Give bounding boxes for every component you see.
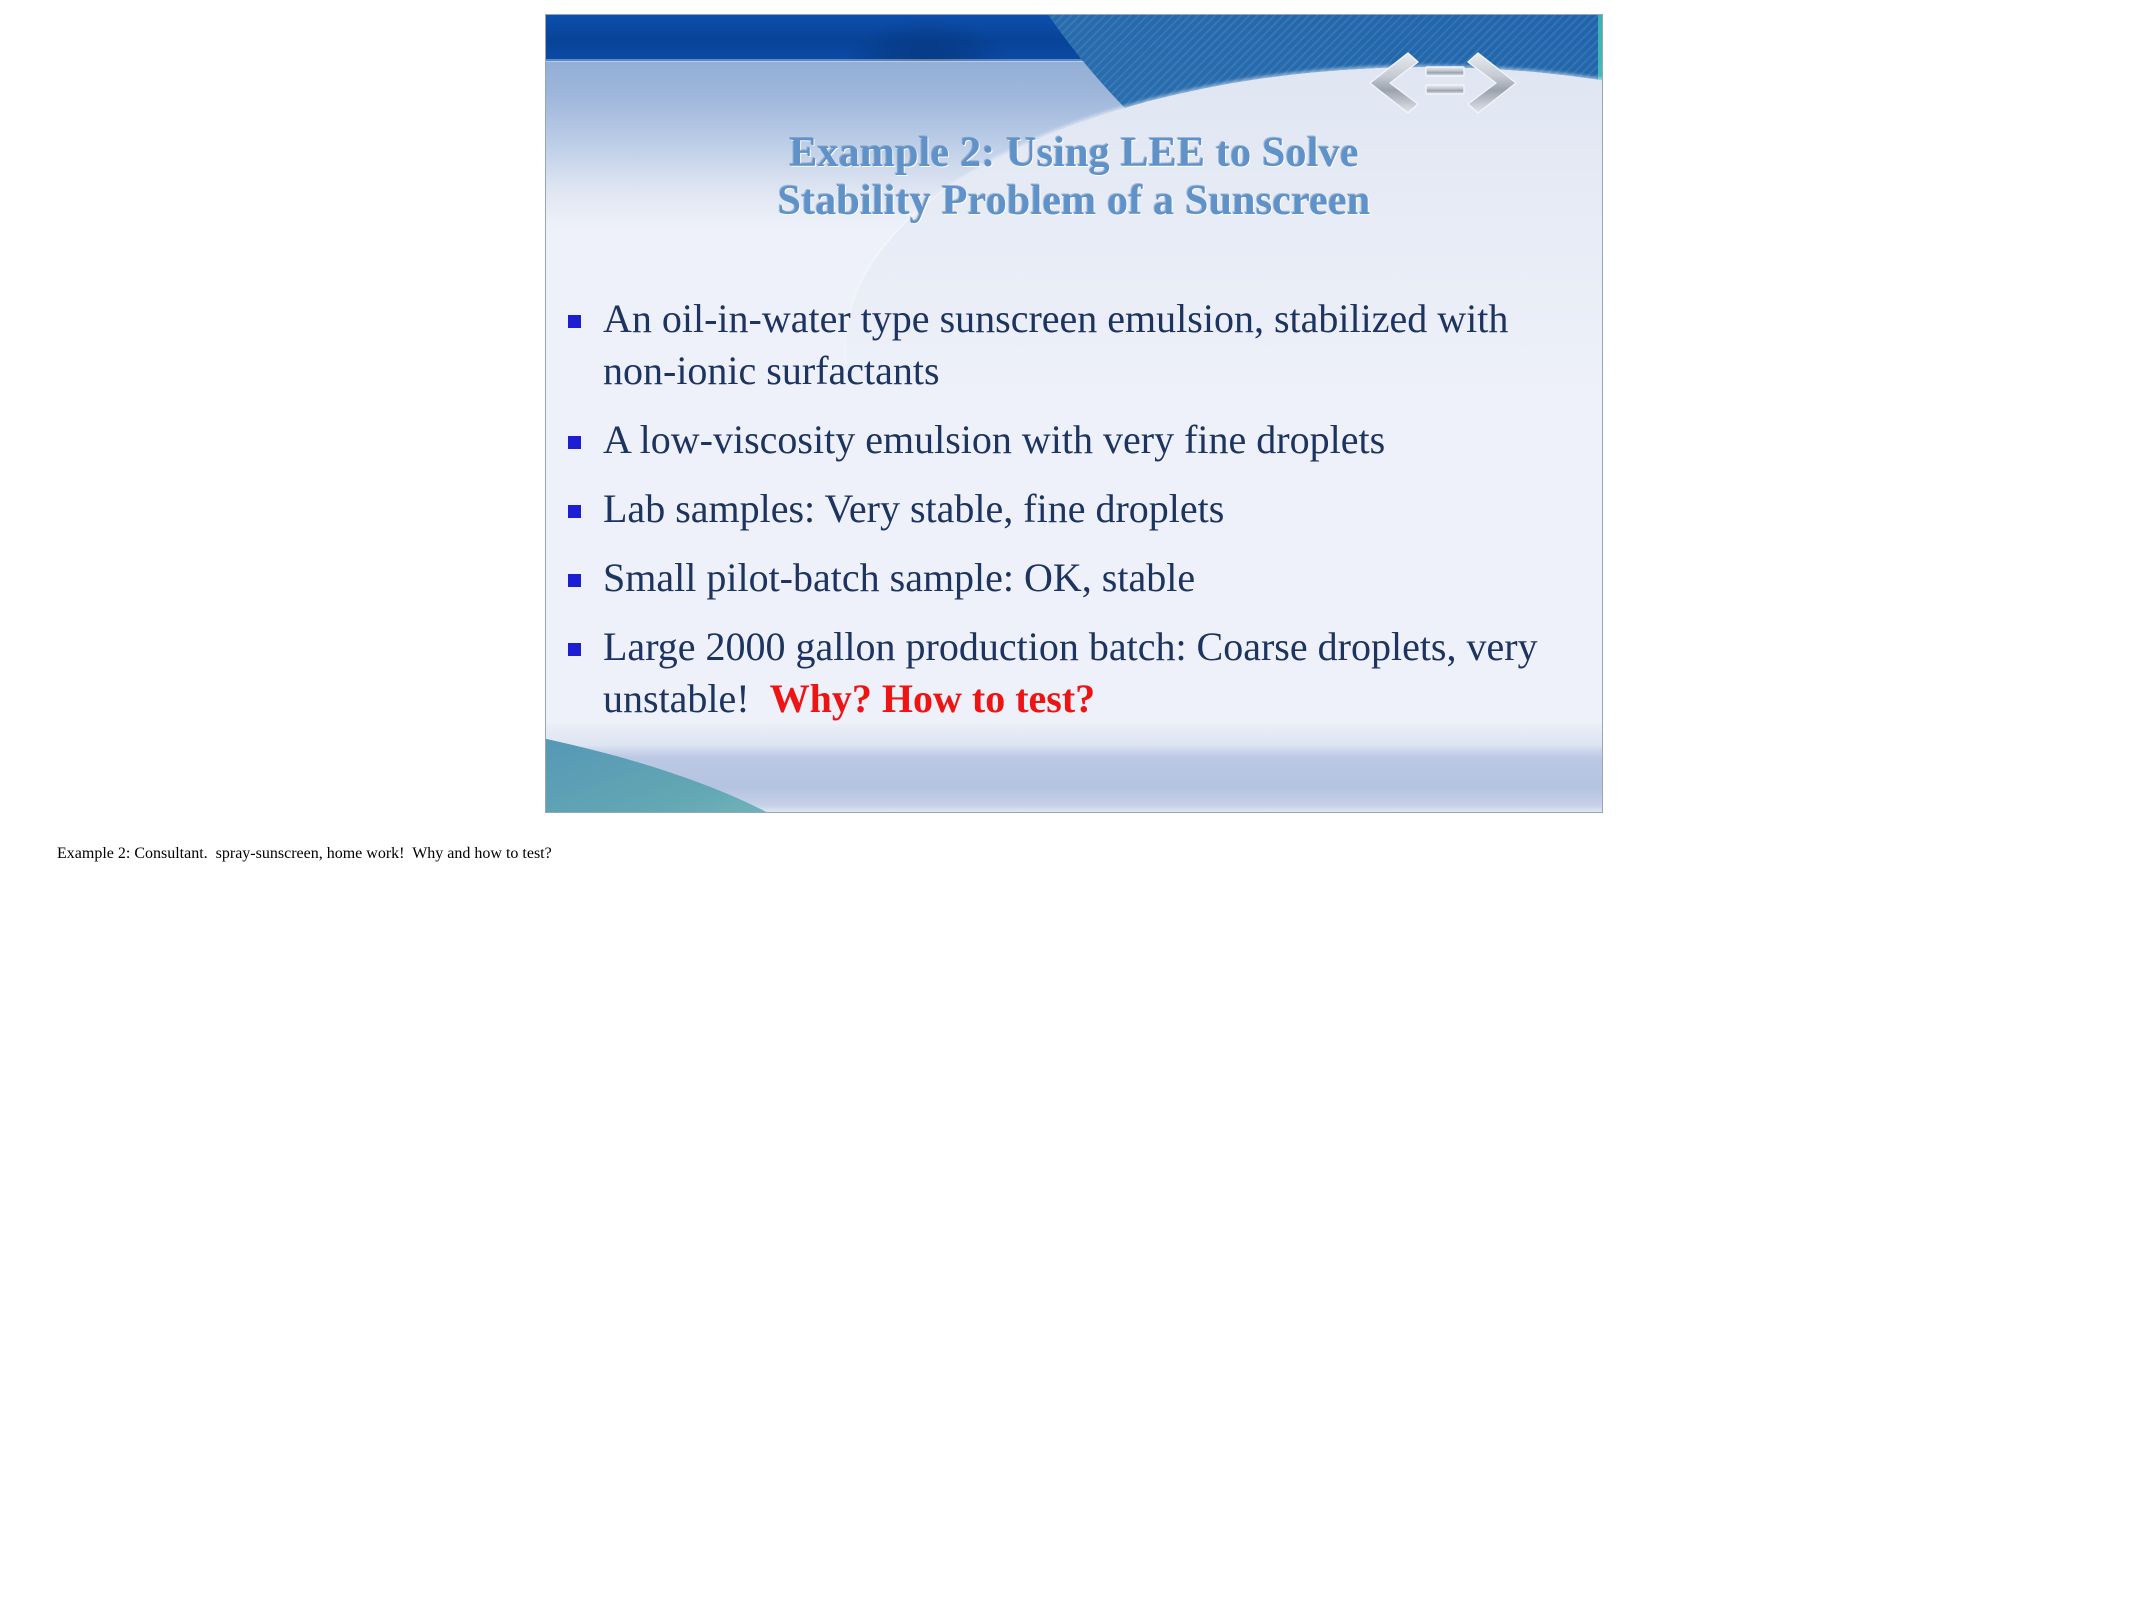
slide-title-line-2: Stability Problem of a Sunscreen [546,177,1602,225]
bullet-text-main: Lab samples: Very stable, fine droplets [603,486,1224,531]
bullet-square-icon [568,574,581,587]
bullet-item: An oil-in-water type sunscreen emulsion,… [568,293,1578,397]
slide-caption-note: Example 2: Consultant. spray-sunscreen, … [57,845,552,863]
bullet-text: A low-viscosity emulsion with very fine … [603,414,1578,466]
slide-body-bullet-list: An oil-in-water type sunscreen emulsion,… [568,293,1578,742]
bullet-text: An oil-in-water type sunscreen emulsion,… [603,293,1578,397]
bullet-square-icon [568,436,581,449]
bullet-text: Small pilot-batch sample: OK, stable [603,552,1578,604]
bullet-text-main: A low-viscosity emulsion with very fine … [603,417,1385,462]
chevron-equals-logo-icon [1364,49,1524,117]
presentation-slide: Example 2: Using LEE to Solve Stability … [545,14,1603,813]
bullet-square-icon [568,643,581,656]
bullet-text-main: Small pilot-batch sample: OK, stable [603,555,1195,600]
bullet-item: Large 2000 gallon production batch: Coar… [568,621,1578,725]
bullet-item: Lab samples: Very stable, fine droplets [568,483,1578,535]
bullet-text-highlight: Why? How to test? [770,676,1096,721]
bullet-text: Large 2000 gallon production batch: Coar… [603,621,1578,725]
bullet-square-icon [568,505,581,518]
bullet-item: A low-viscosity emulsion with very fine … [568,414,1578,466]
bullet-text: Lab samples: Very stable, fine droplets [603,483,1578,535]
bullet-text-main: An oil-in-water type sunscreen emulsion,… [603,296,1508,393]
bullet-item: Small pilot-batch sample: OK, stable [568,552,1578,604]
slide-title: Example 2: Using LEE to Solve Stability … [546,129,1602,225]
slide-title-line-1: Example 2: Using LEE to Solve [546,129,1602,177]
bullet-square-icon [568,315,581,328]
